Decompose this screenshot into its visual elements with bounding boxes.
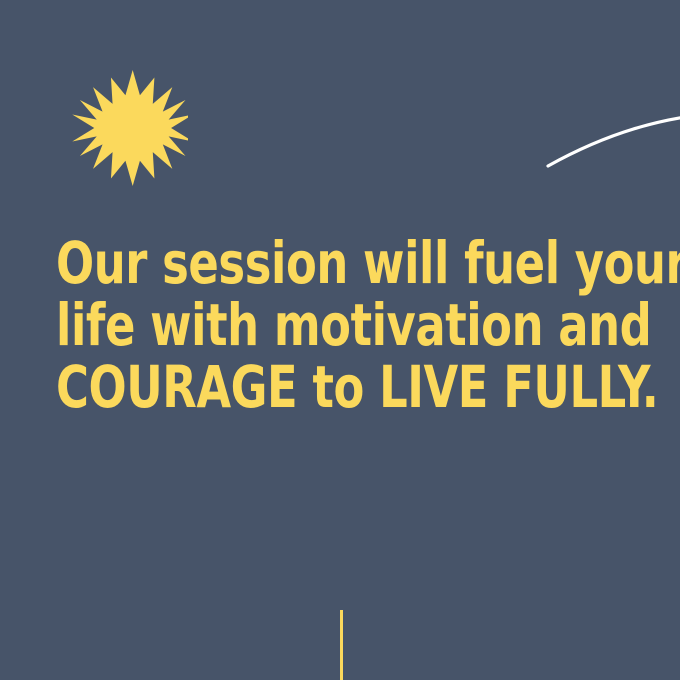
headline-line-3: COURAGE to LIVE FULLY. [56, 356, 555, 418]
headline: Our session will fuel your life with mot… [56, 232, 636, 418]
arc-swoosh-icon [530, 95, 680, 185]
headline-line-2: life with motivation and [56, 294, 555, 356]
headline-line-1: Our session will fuel your [56, 232, 555, 294]
starburst-icon [72, 70, 188, 186]
starburst-shape [72, 70, 188, 186]
arc-swoosh-path [548, 117, 680, 166]
vertical-accent-rule [340, 610, 343, 680]
promo-poster: Our session will fuel your life with mot… [0, 0, 680, 680]
